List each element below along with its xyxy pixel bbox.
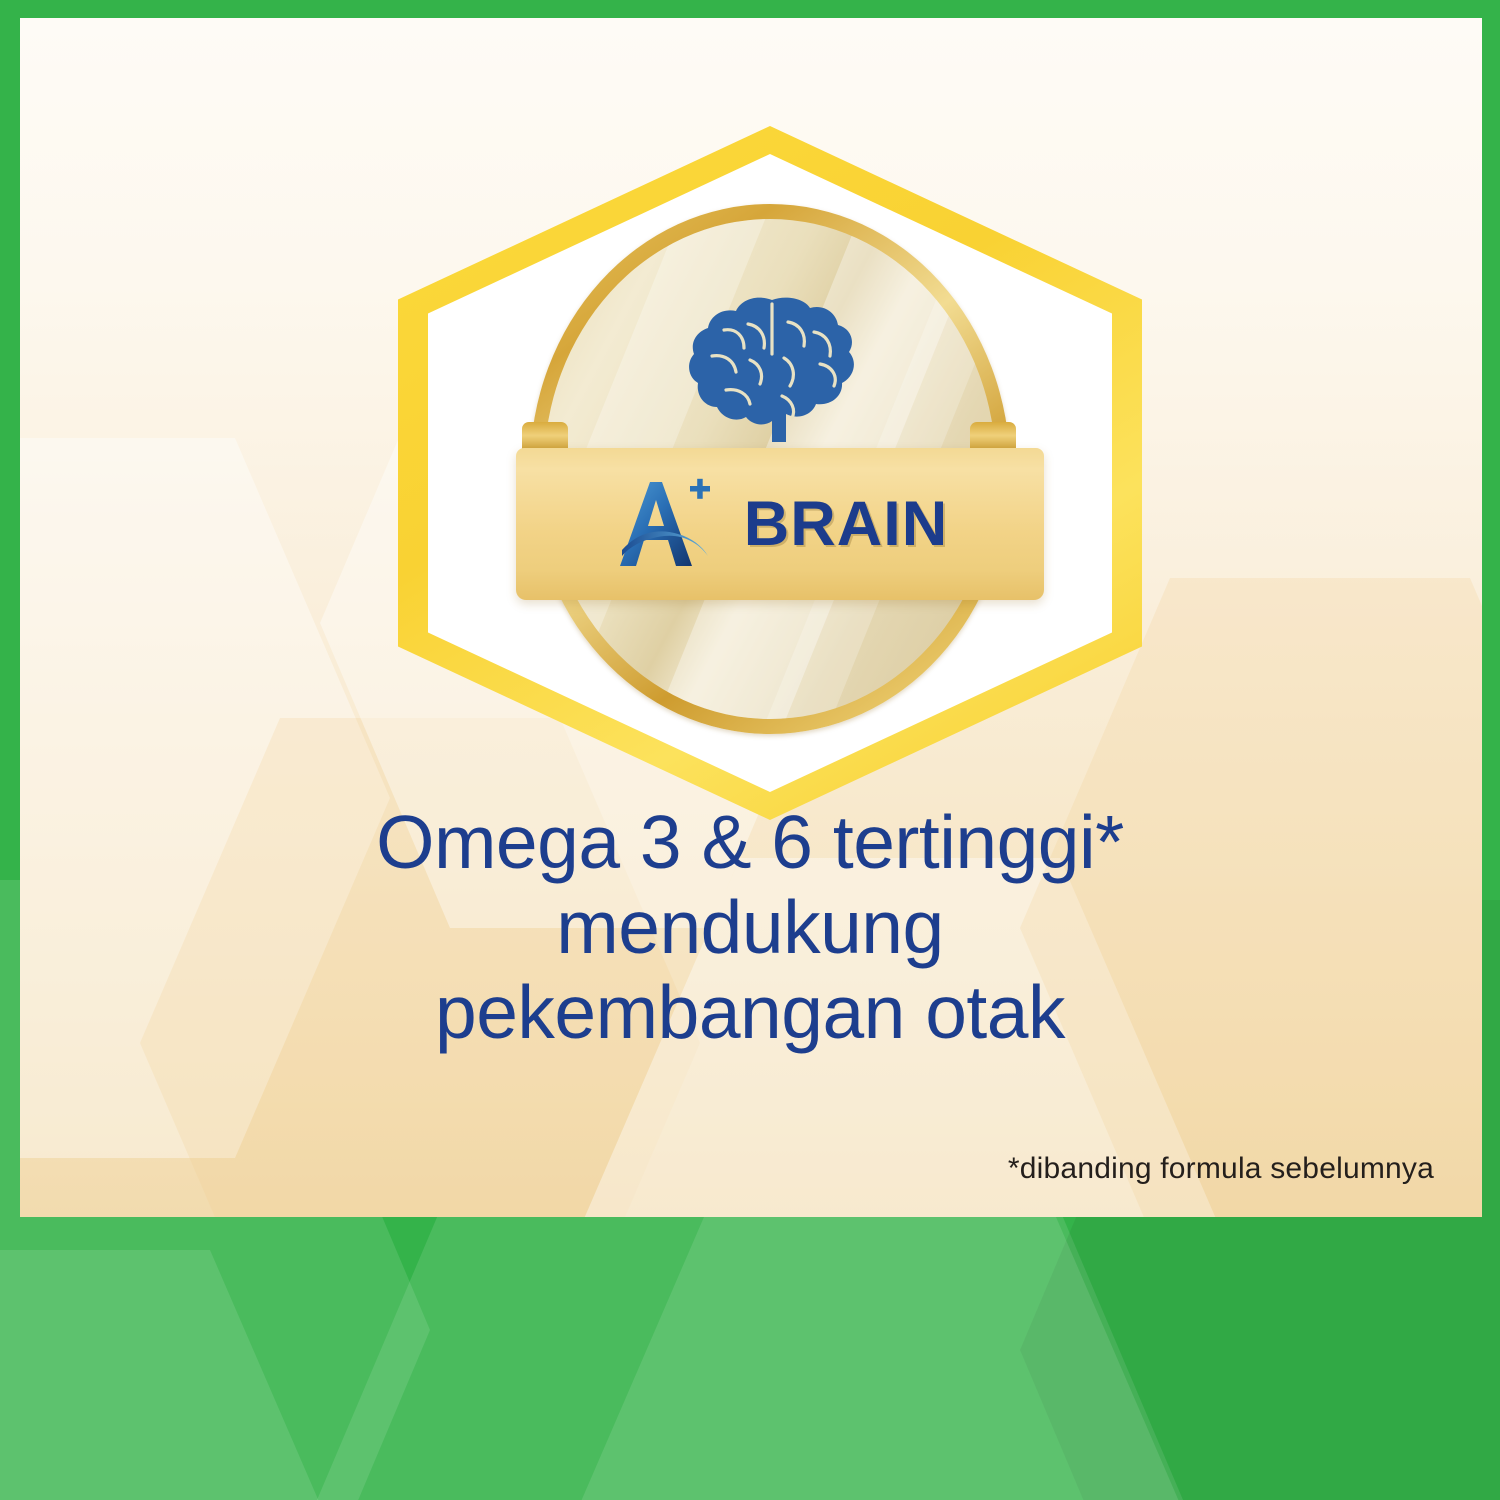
brain-wordmark: BRAIN bbox=[744, 493, 949, 556]
headline-block: Omega 3 & 6 tertinggi* mendukung pekemba… bbox=[20, 800, 1482, 1054]
headline-line-1: Omega 3 & 6 tertinggi* bbox=[20, 800, 1482, 885]
headline-line-2: mendukung bbox=[20, 885, 1482, 970]
badge-ribbon: BRAIN bbox=[516, 448, 1044, 600]
footnote-text: *dibanding formula sebelumnya bbox=[1008, 1152, 1434, 1186]
a-plus-logo-icon bbox=[612, 476, 720, 572]
brain-icon bbox=[686, 294, 864, 446]
headline-line-3: pekembangan otak bbox=[20, 970, 1482, 1055]
content-card: BRAIN Omega 3 & 6 tertinggi* mendukung p… bbox=[20, 18, 1482, 1217]
a-plus-brain-badge: BRAIN bbox=[398, 126, 1142, 820]
poster-canvas: BRAIN Omega 3 & 6 tertinggi* mendukung p… bbox=[0, 0, 1500, 1500]
